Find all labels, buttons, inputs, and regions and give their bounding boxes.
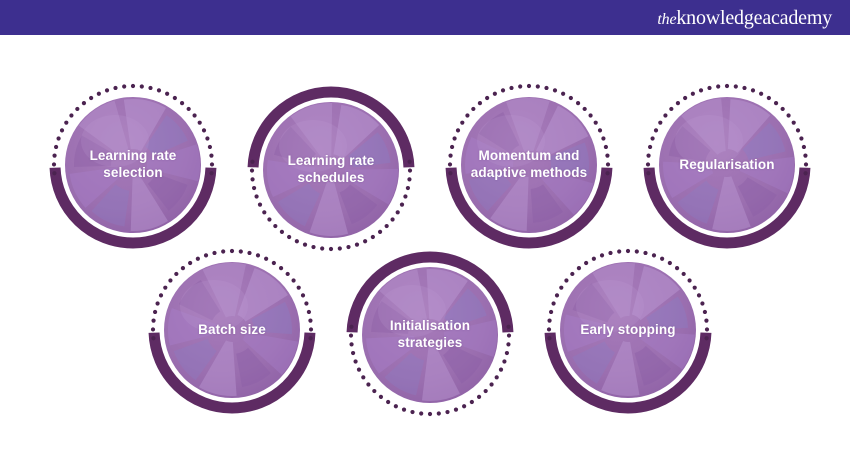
- diagram-node-initialisation-strategies[interactable]: Initialisation strategies: [348, 253, 512, 417]
- brand-logo-main: knowledgeacademy: [676, 7, 832, 29]
- node-graphic: [447, 83, 611, 247]
- node-graphic: [249, 88, 413, 252]
- diagram-node-regularisation[interactable]: Regularisation: [645, 83, 809, 247]
- diagram-node-learning-rate-selection[interactable]: Learning rate selection: [51, 83, 215, 247]
- page-header: theknowledgeacademy: [0, 0, 850, 35]
- diagram-node-batch-size[interactable]: Batch size: [150, 248, 314, 412]
- node-graphic: [51, 83, 215, 247]
- node-graphic: [150, 248, 314, 412]
- diagram-node-momentum-and-adaptive-methods[interactable]: Momentum and adaptive methods: [447, 83, 611, 247]
- diagram-canvas: Learning rate selectionLearning rate sch…: [0, 35, 850, 450]
- node-graphic: [546, 248, 710, 412]
- node-graphic: [348, 253, 512, 417]
- node-graphic: [645, 83, 809, 247]
- brand-logo[interactable]: theknowledgeacademy: [657, 8, 850, 28]
- brand-logo-prefix: the: [657, 11, 676, 28]
- diagram-node-early-stopping[interactable]: Early stopping: [546, 248, 710, 412]
- diagram-node-learning-rate-schedules[interactable]: Learning rate schedules: [249, 88, 413, 252]
